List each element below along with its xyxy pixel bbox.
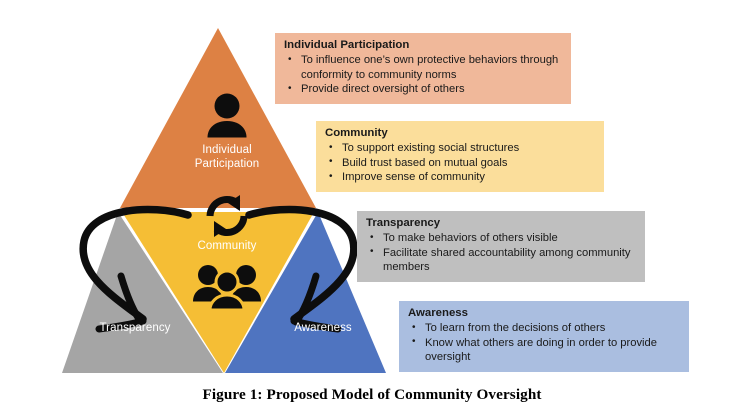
callout-bullet: To support existing social structures [325, 141, 595, 156]
callout-bullet-list: To make behaviors of others visible Faci… [366, 231, 636, 275]
callout-title: Individual Participation [284, 38, 562, 53]
callout-bullet-list: To learn from the decisions of others Kn… [408, 321, 680, 365]
callout-transparency: Transparency To make behaviors of others… [357, 211, 645, 282]
figure-container: Individual Participation Community Trans… [0, 0, 744, 418]
callout-bullet: Improve sense of community [325, 170, 595, 185]
callout-awareness: Awareness To learn from the decisions of… [399, 301, 689, 372]
callout-bullet-list: To support existing social structures Bu… [325, 141, 595, 185]
callout-title: Transparency [366, 216, 636, 231]
callout-bullet: Build trust based on mutual goals [325, 156, 595, 171]
callout-bullet: Facilitate shared accountability among c… [366, 246, 636, 275]
callout-bullet: To make behaviors of others visible [366, 231, 636, 246]
callout-bullet-list: To influence one’s own protective behavi… [284, 53, 562, 97]
figure-caption: Figure 1: Proposed Model of Community Ov… [0, 386, 744, 404]
callout-bullet: Provide direct oversight of others [284, 82, 562, 97]
callout-bullet: To learn from the decisions of others [408, 321, 680, 336]
callout-individual-participation: Individual Participation To influence on… [275, 33, 571, 104]
callout-community: Community To support existing social str… [316, 121, 604, 192]
callout-bullet: Know what others are doing in order to p… [408, 336, 680, 365]
callout-title: Awareness [408, 306, 680, 321]
callout-bullet: To influence one’s own protective behavi… [284, 53, 562, 82]
callout-title: Community [325, 126, 595, 141]
